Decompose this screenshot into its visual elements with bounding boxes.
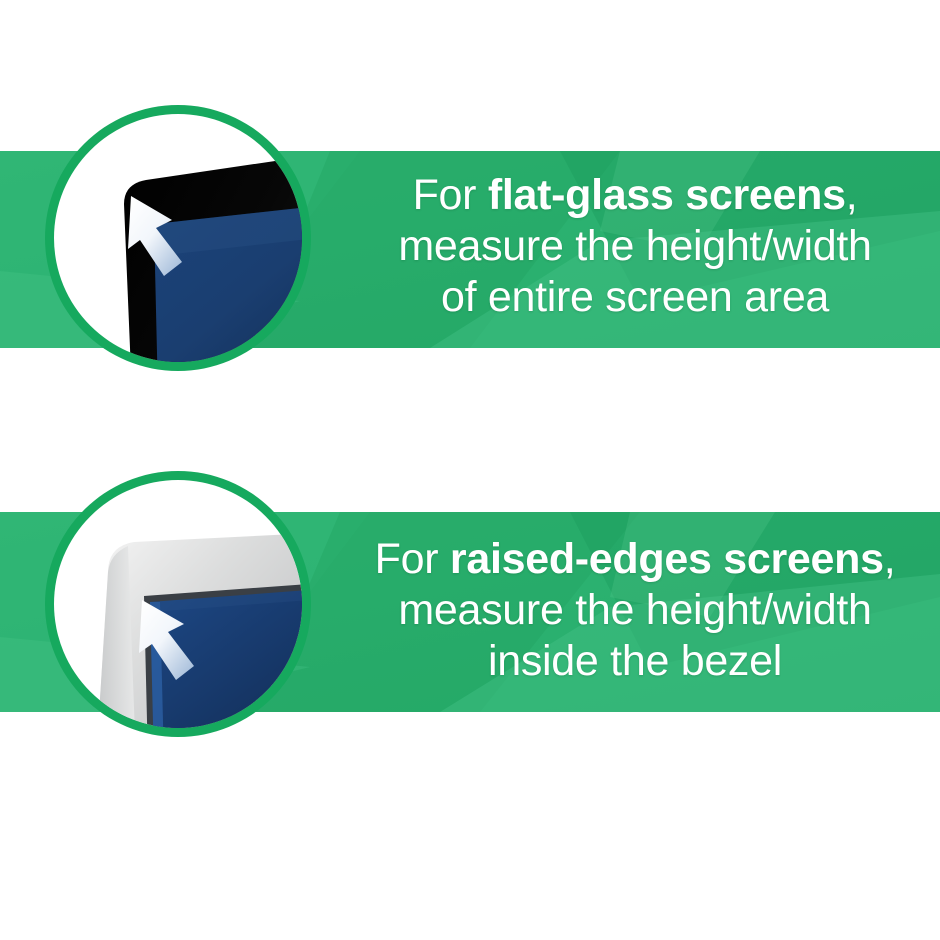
- flat-glass-screen-icon: [36, 96, 320, 380]
- raised-edge-screen-icon: [36, 462, 320, 746]
- caption-emphasis-2: raised-edges screens: [450, 535, 884, 583]
- caption-line-1: For flat-glass screens,: [330, 170, 940, 221]
- caption-line-3: inside the bezel: [330, 636, 940, 687]
- infographic-stage: For flat-glass screens, measure the heig…: [0, 0, 940, 940]
- illustration-raised-edges: [36, 462, 320, 746]
- caption-line-1: For raised-edges screens,: [330, 534, 940, 585]
- illustration-flat-glass: [36, 96, 320, 380]
- caption-flat-glass: For flat-glass screens, measure the heig…: [330, 170, 940, 323]
- caption-line-2: measure the height/width: [330, 221, 940, 272]
- caption-line-3: of entire screen area: [330, 272, 940, 323]
- caption-emphasis-1: flat-glass screens: [488, 171, 846, 219]
- panel-raised-edges: For raised-edges screens, measure the he…: [0, 470, 940, 940]
- caption-line-2: measure the height/width: [330, 585, 940, 636]
- caption-raised-edges: For raised-edges screens, measure the he…: [330, 534, 940, 687]
- panel-flat-glass: For flat-glass screens, measure the heig…: [0, 0, 940, 470]
